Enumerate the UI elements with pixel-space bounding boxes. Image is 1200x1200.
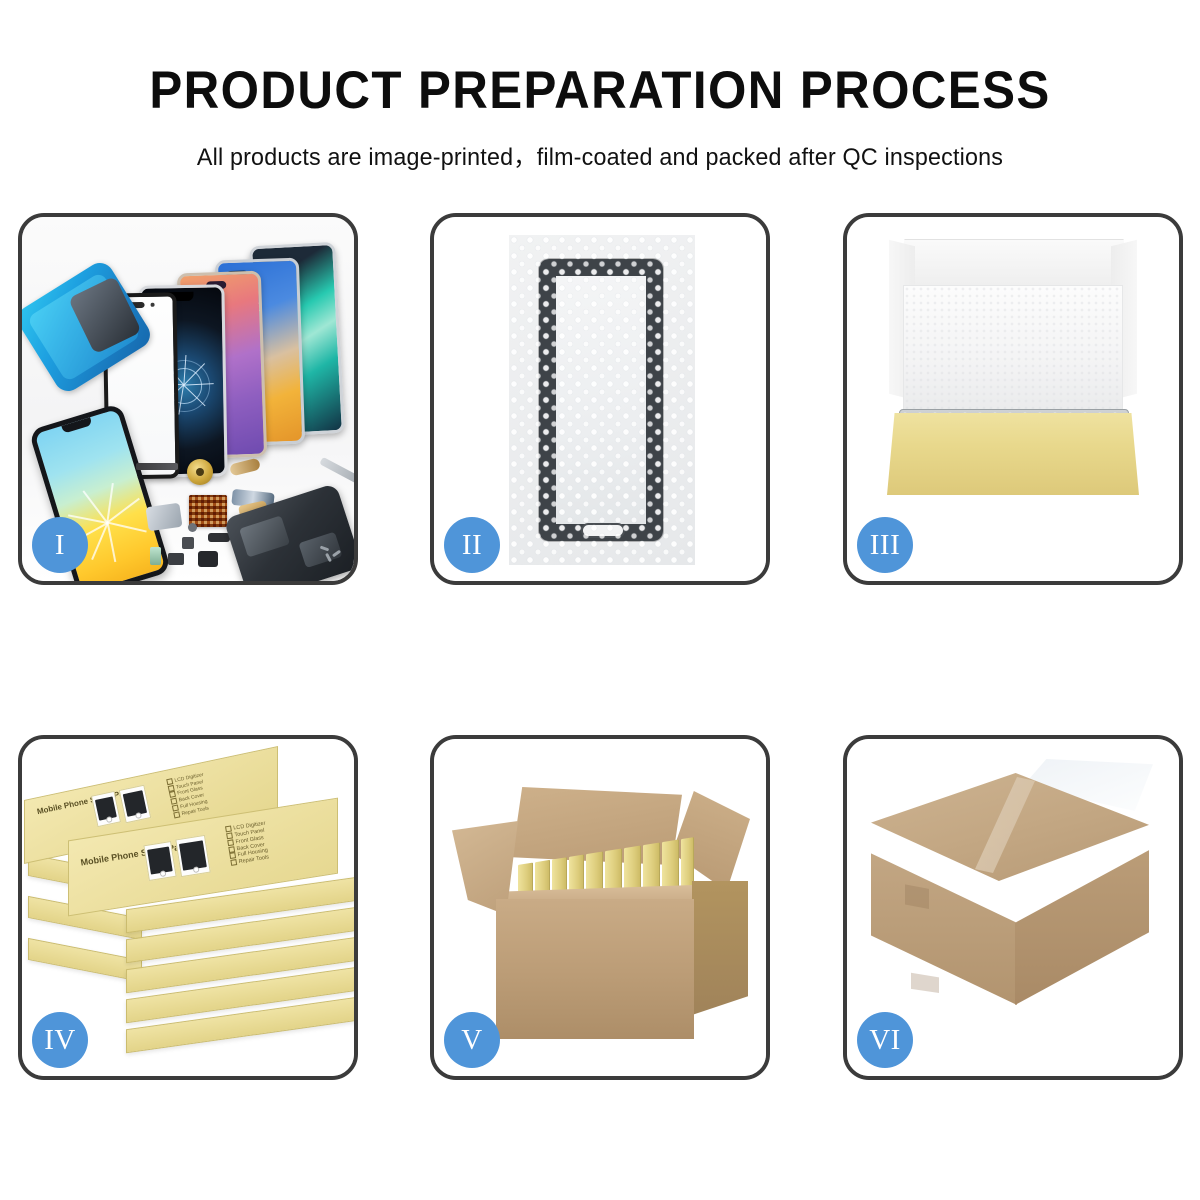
- yellow-inner-box-base: [887, 413, 1139, 495]
- step-card-v: V: [430, 735, 770, 1080]
- front-camera-icon: [151, 303, 155, 307]
- step-badge-iv: IV: [32, 1012, 88, 1068]
- retail-box-checklist-lower: LCD Digitizer Touch Panel Front Glass Ba…: [225, 820, 271, 867]
- header: PRODUCT PREPARATION PROCESS All products…: [0, 0, 1200, 172]
- notch-icon: [61, 417, 92, 433]
- ic-chip-part: [189, 495, 227, 527]
- screws-group: [320, 547, 350, 561]
- small-component-1: [208, 533, 230, 542]
- process-steps-grid: 08:08 Thu, Sep 3: [0, 213, 1200, 1093]
- step-card-i: 08:08 Thu, Sep 3: [18, 213, 358, 585]
- box-screen-thumb-lower-1: [143, 841, 176, 881]
- bubble-wrap-sheet: [509, 235, 695, 565]
- page-title: PRODUCT PREPARATION PROCESS: [42, 64, 1158, 117]
- step-card-vi: VI: [843, 735, 1183, 1080]
- step-badge-iii: III: [857, 517, 913, 573]
- small-component-2: [182, 537, 194, 549]
- wrapped-phone-screen: [539, 259, 663, 541]
- connector-strip-part: [136, 463, 178, 470]
- home-button-cutout-icon: [581, 523, 625, 538]
- carton-front-panel: [496, 899, 694, 1039]
- step-card-iii: III: [843, 213, 1183, 585]
- small-component-6: [198, 551, 218, 567]
- step-badge-i: I: [32, 517, 88, 573]
- step-badge-ii: II: [444, 517, 500, 573]
- speaker-coil-part: [187, 459, 213, 485]
- carton-side-panel: [692, 881, 748, 1015]
- step-badge-vi: VI: [857, 1012, 913, 1068]
- box-screen-thumb-lower-2: [175, 835, 211, 877]
- retail-box-checklist-upper: LCD Digitizer Touch Panel Front Glass Ba…: [166, 772, 211, 819]
- foam-liner: [903, 285, 1123, 419]
- step-card-iv: Mobile Phone Spare Parts LCD Digitizer T…: [18, 735, 358, 1080]
- small-component-5: [168, 553, 184, 565]
- page-subtitle: All products are image-printed，film-coat…: [18, 137, 1182, 172]
- product-preparation-infographic: PRODUCT PREPARATION PROCESS All products…: [0, 0, 1200, 1200]
- small-component-7: [188, 523, 197, 532]
- flex-cable-a-part: [145, 503, 182, 531]
- small-component-4: [150, 547, 161, 565]
- step-badge-v: V: [444, 1012, 500, 1068]
- step-card-ii: II: [430, 213, 770, 585]
